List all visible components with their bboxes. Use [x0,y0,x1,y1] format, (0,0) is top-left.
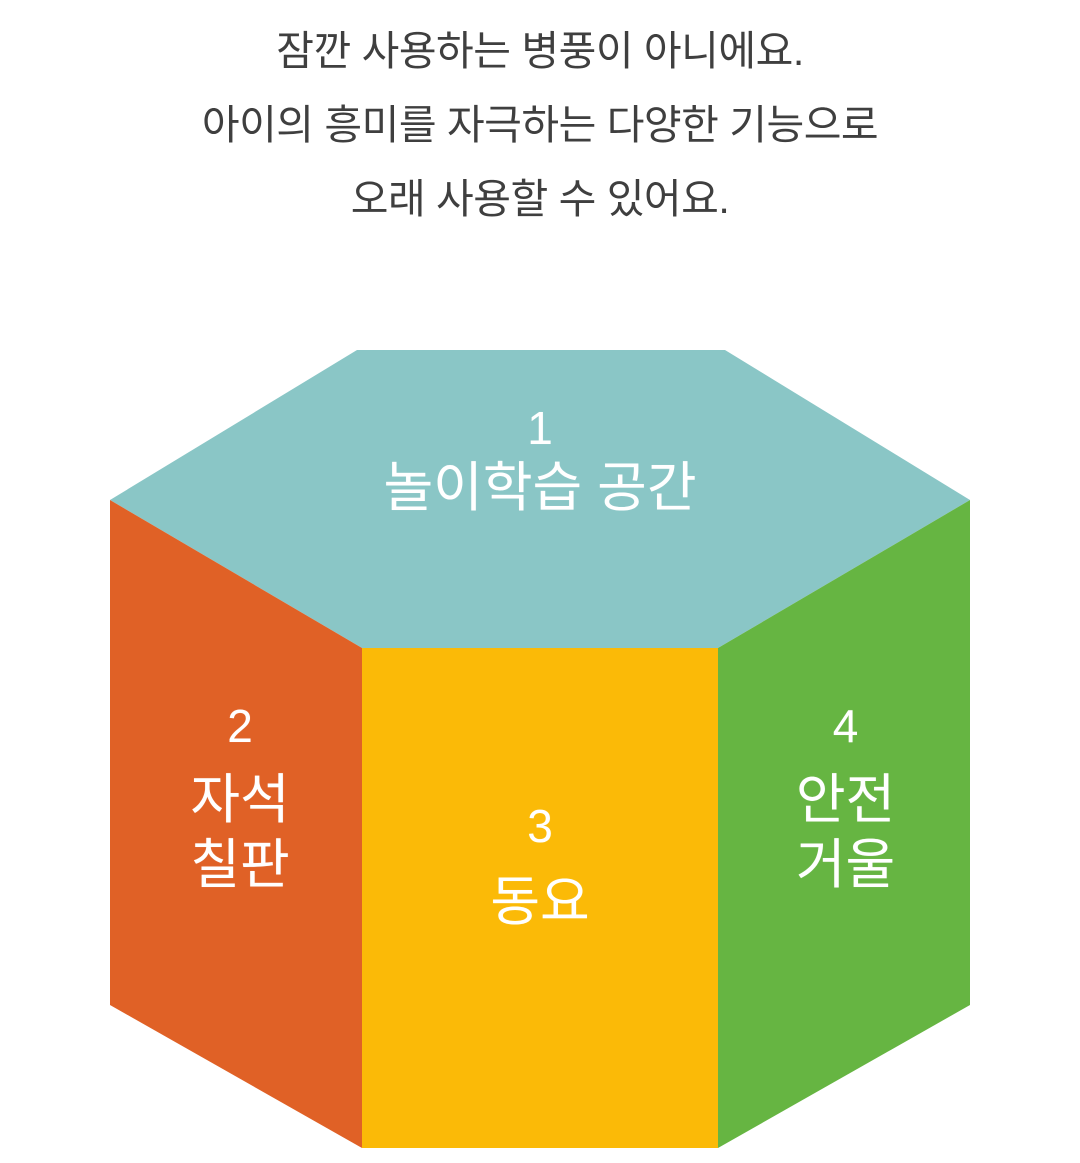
promo-page: 잠깐 사용하는 병풍이 아니에요. 아이의 흥미를 자극하는 다양한 기능으로 … [0,0,1080,1163]
cube-face-front[interactable] [362,648,718,1148]
feature-cube-diagram: 1 놀이학습 공간 2 자석 칠판 3 동요 4 안전 거울 [0,0,1080,1163]
